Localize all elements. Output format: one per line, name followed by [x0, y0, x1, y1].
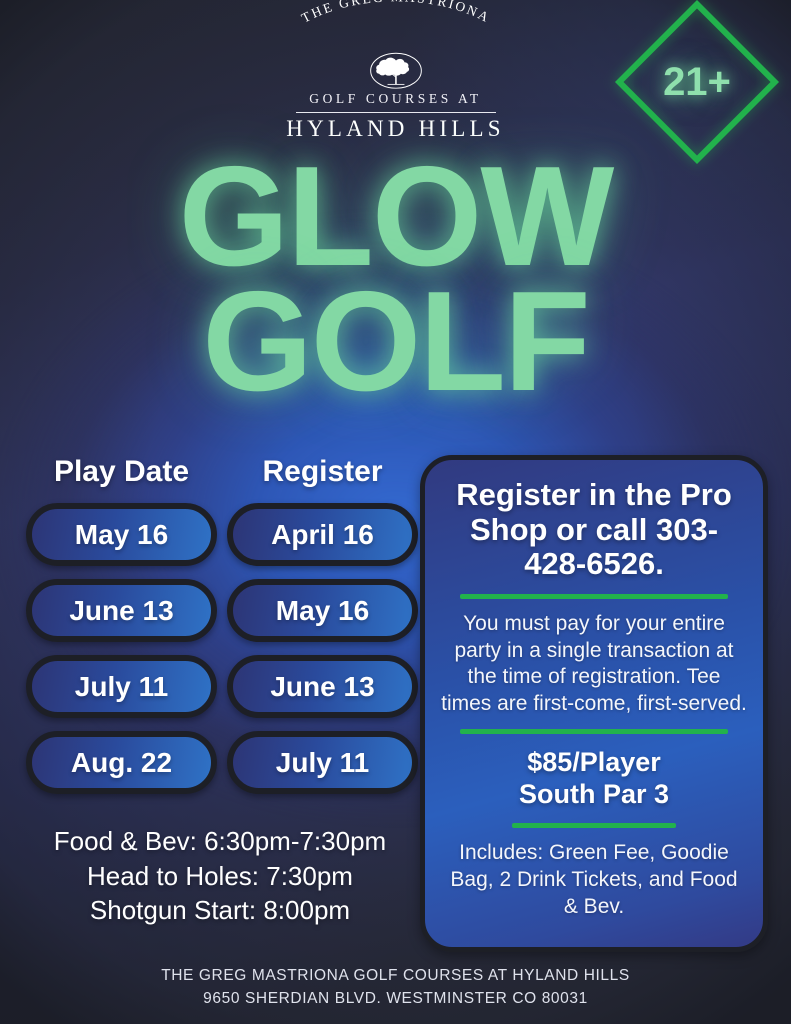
title-line-2: GOLF — [0, 277, 791, 408]
registration-info-card: Register in the Pro Shop or call 303-428… — [420, 455, 768, 952]
schedule-line-shotgun: Shotgun Start: 8:00pm — [20, 893, 420, 928]
divider-green-3 — [512, 823, 676, 828]
register-date-pill[interactable]: July 11 — [227, 731, 418, 794]
card-price: $85/Player — [441, 746, 747, 778]
column-header-play-date: Play Date — [26, 455, 217, 489]
dates-table: Play Date Register May 16 April 16 June … — [26, 455, 418, 807]
footer-line-venue: THE GREG MASTRIONA GOLF COURSES AT HYLAN… — [0, 965, 791, 987]
dates-header-row: Play Date Register — [26, 455, 418, 489]
card-heading: Register in the Pro Shop or call 303-428… — [441, 478, 747, 582]
age-badge-label: 21+ — [623, 8, 771, 156]
page-title: GLOW GOLF — [0, 152, 791, 407]
logo-divider — [296, 112, 496, 113]
schedule-line-food-bev: Food & Bev: 6:30pm-7:30pm — [20, 824, 420, 859]
register-date-pill[interactable]: May 16 — [227, 579, 418, 642]
play-date-pill[interactable]: June 13 — [26, 579, 217, 642]
play-date-pill[interactable]: Aug. 22 — [26, 731, 217, 794]
schedule-line-head-holes: Head to Holes: 7:30pm — [20, 859, 420, 894]
logo-arc-text: THE GREG MASTRIONA — [261, 14, 531, 60]
play-date-pill[interactable]: May 16 — [26, 503, 217, 566]
logo-subline: GOLF COURSES AT — [309, 91, 482, 107]
event-schedule: Food & Bev: 6:30pm-7:30pm Head to Holes:… — [20, 824, 420, 928]
column-header-register: Register — [227, 455, 418, 489]
register-date-pill[interactable]: June 13 — [227, 655, 418, 718]
card-policy-text: You must pay for your entire party in a … — [441, 611, 747, 717]
table-row: July 11 June 13 — [26, 655, 418, 718]
divider-green-2 — [460, 729, 728, 734]
age-restriction-badge: 21+ — [623, 8, 771, 156]
table-row: Aug. 22 July 11 — [26, 731, 418, 794]
card-includes-text: Includes: Green Fee, Goodie Bag, 2 Drink… — [441, 840, 747, 921]
card-course: South Par 3 — [441, 778, 747, 810]
register-date-pill[interactable]: April 16 — [227, 503, 418, 566]
play-date-pill[interactable]: July 11 — [26, 655, 217, 718]
table-row: May 16 April 16 — [26, 503, 418, 566]
footer-address: THE GREG MASTRIONA GOLF COURSES AT HYLAN… — [0, 965, 791, 1010]
divider-green-1 — [460, 594, 728, 599]
table-row: June 13 May 16 — [26, 579, 418, 642]
footer-line-address: 9650 SHERDIAN BLVD. WESTMINSTER CO 80031 — [0, 988, 791, 1010]
glow-golf-poster: THE GREG MASTRIONA GOLF COURSES AT HYLAN… — [0, 0, 791, 1024]
